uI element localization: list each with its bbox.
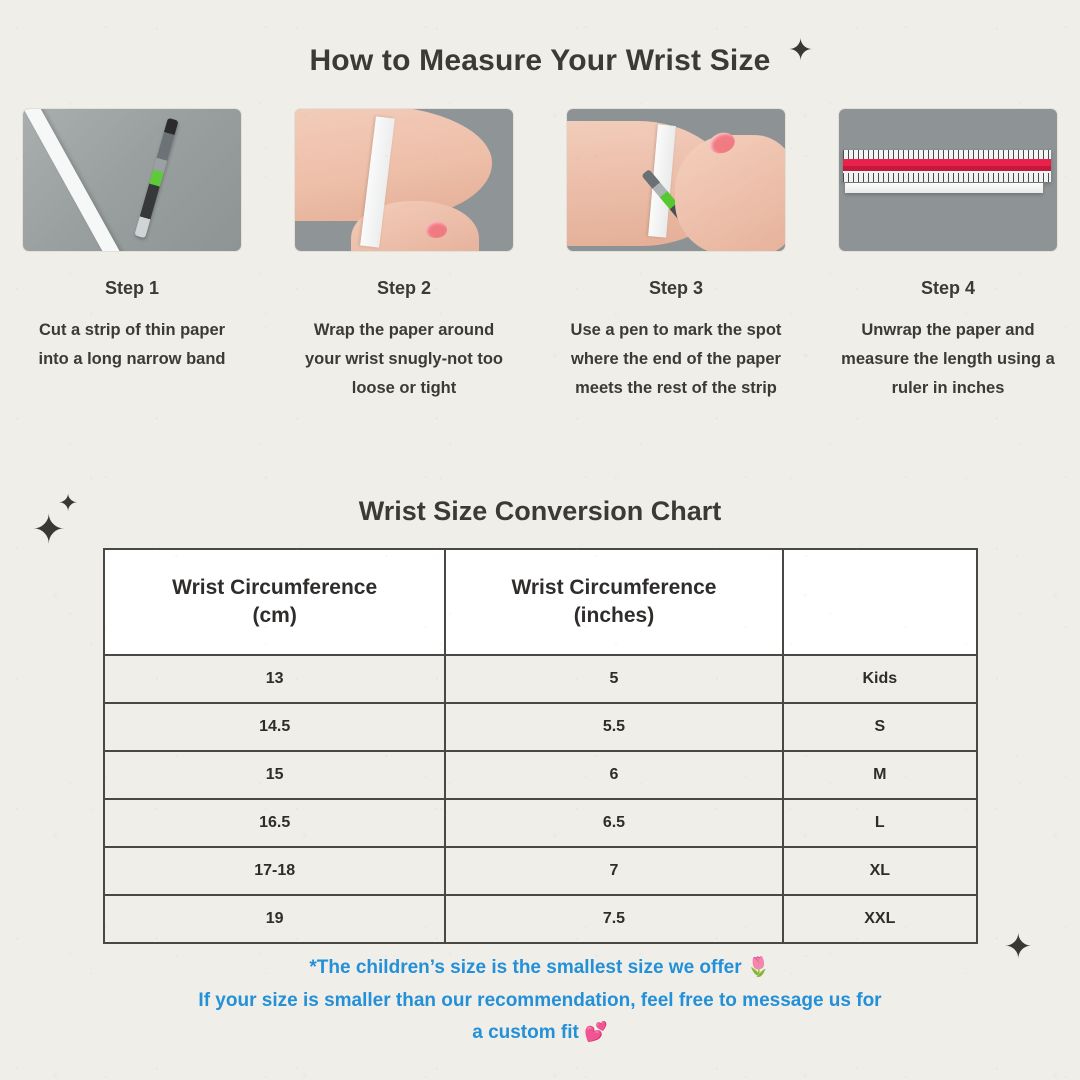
step-4-label: Step 4 — [921, 278, 975, 299]
table-row: 19 7.5 XXL — [104, 895, 977, 943]
table-row: 15 6 M — [104, 751, 977, 799]
ruler-measuring-strip-photo — [838, 108, 1058, 252]
step-2-description: Wrap the paper around your wrist snugly-… — [295, 316, 513, 403]
cell-cm: 17-18 — [104, 847, 445, 895]
column-header-cm-line1: Wrist Circumference — [172, 576, 377, 599]
table-row: 14.5 5.5 S — [104, 703, 977, 751]
step-2: Step 2 Wrap the paper around your wrist … — [294, 108, 514, 403]
step-3: Step 3 Use a pen to mark the spot where … — [566, 108, 786, 403]
ruler-ticks-bottom — [843, 173, 1051, 182]
paper-strip-shape — [22, 108, 134, 252]
table-header: Wrist Circumference (cm) Wrist Circumfer… — [104, 549, 977, 655]
cell-inches: 7.5 — [445, 895, 782, 943]
cell-inches: 5 — [445, 655, 782, 703]
table-row: 13 5 Kids — [104, 655, 977, 703]
cell-size: L — [783, 799, 977, 847]
page-title: How to Measure Your Wrist Size — [309, 44, 770, 78]
cell-cm: 19 — [104, 895, 445, 943]
hand-shape — [675, 135, 786, 252]
footer-line-1: *The children’s size is the smallest siz… — [70, 952, 1010, 985]
sparkle-top-right-icon: ✦ — [788, 36, 813, 66]
table-row: 17-18 7 XL — [104, 847, 977, 895]
step-4-description: Unwrap the paper and measure the length … — [839, 316, 1057, 403]
column-header-cm-line2: (cm) — [252, 604, 296, 627]
step-3-description: Use a pen to mark the spot where the end… — [567, 316, 785, 403]
step-3-label: Step 3 — [649, 278, 703, 299]
cell-cm: 16.5 — [104, 799, 445, 847]
cell-cm: 14.5 — [104, 703, 445, 751]
column-header-cm: Wrist Circumference (cm) — [104, 549, 445, 655]
cell-size: S — [783, 703, 977, 751]
column-header-inches-line1: Wrist Circumference — [511, 576, 716, 599]
chart-title: Wrist Size Conversion Chart — [359, 496, 722, 527]
footer-line-3: a custom fit 💕 — [70, 1017, 1010, 1050]
fingernail-shape — [425, 221, 447, 238]
ruler-ticks-top — [843, 150, 1051, 159]
sparkle-bottom-right-icon: ✦ — [1004, 930, 1033, 964]
table-body: 13 5 Kids 14.5 5.5 S 15 6 M 16.5 6.5 L 1… — [104, 655, 977, 943]
step-1-description: Cut a strip of thin paper into a long na… — [23, 316, 241, 374]
step-1: Step 1 Cut a strip of thin paper into a … — [22, 108, 242, 403]
cell-inches: 6 — [445, 751, 782, 799]
cell-size: M — [783, 751, 977, 799]
page-title-row: How to Measure Your Wrist Size — [0, 44, 1080, 78]
wrist-size-conversion-table: Wrist Circumference (cm) Wrist Circumfer… — [103, 548, 978, 944]
cell-size: XL — [783, 847, 977, 895]
pen-shape — [134, 118, 178, 238]
cell-cm: 13 — [104, 655, 445, 703]
footer-note: *The children’s size is the smallest siz… — [70, 952, 1010, 1050]
step-2-label: Step 2 — [377, 278, 431, 299]
steps-row: Step 1 Cut a strip of thin paper into a … — [22, 108, 1058, 403]
paper-strip-and-pen-photo — [22, 108, 242, 252]
sparkle-chart-large-icon: ✦ — [32, 510, 66, 550]
marking-paper-with-pen-photo — [566, 108, 786, 252]
column-header-size — [783, 549, 977, 655]
column-header-inches: Wrist Circumference (inches) — [445, 549, 782, 655]
cell-size: Kids — [783, 655, 977, 703]
paper-wrapped-around-wrist-photo — [294, 108, 514, 252]
column-header-inches-line2: (inches) — [574, 604, 655, 627]
cell-size: XXL — [783, 895, 977, 943]
cell-inches: 5.5 — [445, 703, 782, 751]
chart-title-row: Wrist Size Conversion Chart — [0, 496, 1080, 527]
step-1-label: Step 1 — [105, 278, 159, 299]
table-row: 16.5 6.5 L — [104, 799, 977, 847]
cell-cm: 15 — [104, 751, 445, 799]
cell-inches: 6.5 — [445, 799, 782, 847]
table-header-row: Wrist Circumference (cm) Wrist Circumfer… — [104, 549, 977, 655]
step-4: Step 4 Unwrap the paper and measure the … — [838, 108, 1058, 403]
ruler-shape — [843, 150, 1051, 182]
paper-strip-shape — [845, 183, 1043, 193]
footer-line-2: If your size is smaller than our recomme… — [70, 985, 1010, 1018]
cell-inches: 7 — [445, 847, 782, 895]
